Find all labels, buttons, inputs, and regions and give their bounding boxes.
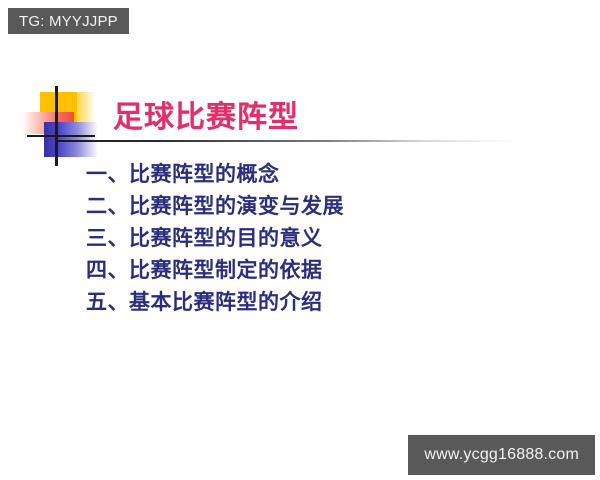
slide-title: 足球比赛阵型 bbox=[113, 99, 299, 137]
slide-canvas: TG: MYYJJPP 足球比赛阵型 一、比赛阵型的概念 二、比赛阵型的演变与发… bbox=[0, 0, 600, 480]
decorative-color-blocks bbox=[22, 86, 102, 166]
site-watermark-badge: www.ycgg16888.com bbox=[408, 435, 595, 475]
telegram-tag-text: TG: MYYJJPP bbox=[19, 13, 118, 30]
telegram-tag-badge: TG: MYYJJPP bbox=[8, 8, 129, 34]
site-watermark-text: www.ycgg16888.com bbox=[424, 446, 579, 464]
outline-list: 一、比赛阵型的概念 二、比赛阵型的演变与发展 三、比赛阵型的目的意义 四、比赛阵… bbox=[86, 158, 566, 318]
crosshair-vertical-line bbox=[55, 86, 58, 166]
list-item: 二、比赛阵型的演变与发展 bbox=[86, 190, 566, 222]
crosshair-horizontal-line bbox=[27, 135, 95, 137]
yellow-fade-square-shape bbox=[77, 92, 95, 126]
title-underline-rule bbox=[57, 140, 517, 142]
list-item: 一、比赛阵型的概念 bbox=[86, 158, 566, 190]
list-item: 五、基本比赛阵型的介绍 bbox=[86, 286, 566, 318]
list-item: 四、比赛阵型制定的依据 bbox=[86, 254, 566, 286]
list-item: 三、比赛阵型的目的意义 bbox=[86, 222, 566, 254]
